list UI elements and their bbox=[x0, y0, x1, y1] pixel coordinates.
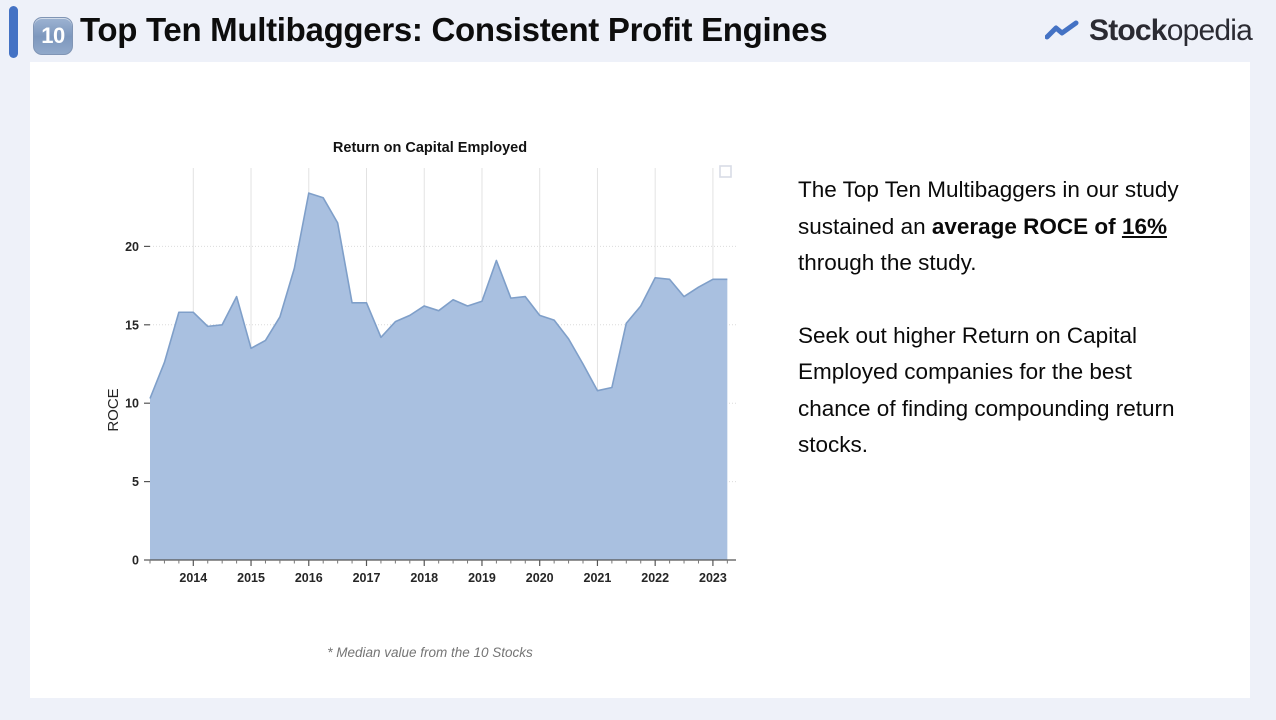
stockopedia-logo[interactable]: Stockopedia bbox=[1045, 14, 1252, 48]
area-fill bbox=[150, 193, 727, 560]
svg-text:5: 5 bbox=[132, 475, 139, 489]
svg-text:2014: 2014 bbox=[179, 571, 207, 585]
x-axis: 2014201520162017201820192020202120222023 bbox=[150, 560, 736, 585]
roce-chart: Return on Capital Employed 05101520 2014… bbox=[100, 140, 760, 680]
svg-text:2022: 2022 bbox=[641, 571, 669, 585]
svg-text:2017: 2017 bbox=[353, 571, 381, 585]
accent-bar bbox=[9, 6, 18, 58]
chart-area-series bbox=[150, 193, 727, 560]
content-card: Return on Capital Employed 05101520 2014… bbox=[30, 62, 1250, 698]
logo-word-opedia: opedia bbox=[1167, 14, 1252, 47]
svg-text:2020: 2020 bbox=[526, 571, 554, 585]
paragraph-one-bold-text: average ROCE of bbox=[932, 214, 1122, 239]
chart-footnote: * Median value from the 10 Stocks bbox=[100, 645, 760, 660]
y-axis-label: ROCE bbox=[105, 388, 122, 431]
trend-up-icon bbox=[1045, 20, 1079, 42]
svg-text:2023: 2023 bbox=[699, 571, 727, 585]
paragraph-one: The Top Ten Multibaggers in our study su… bbox=[798, 172, 1210, 282]
page-header: 10 Top Ten Multibaggers: Consistent Prof… bbox=[0, 0, 1276, 62]
svg-text:2015: 2015 bbox=[237, 571, 265, 585]
logo-word-stock: Stock bbox=[1089, 14, 1167, 47]
svg-text:2016: 2016 bbox=[295, 571, 323, 585]
paragraph-two: Seek out higher Return on Capital Employ… bbox=[798, 318, 1210, 464]
chart-canvas[interactable]: 05101520 2014201520162017201820192020202… bbox=[100, 160, 760, 640]
svg-text:10: 10 bbox=[125, 397, 139, 411]
paragraph-one-bold: average ROCE of 16% bbox=[932, 214, 1167, 239]
legend-marker-icon[interactable] bbox=[720, 166, 731, 177]
svg-text:20: 20 bbox=[125, 240, 139, 254]
svg-text:2019: 2019 bbox=[468, 571, 496, 585]
commentary-text: The Top Ten Multibaggers in our study su… bbox=[798, 172, 1210, 464]
svg-text:0: 0 bbox=[132, 554, 139, 568]
svg-text:2021: 2021 bbox=[584, 571, 612, 585]
svg-text:2018: 2018 bbox=[410, 571, 438, 585]
page-title: Top Ten Multibaggers: Consistent Profit … bbox=[80, 11, 827, 49]
logo-wordmark: Stockopedia bbox=[1089, 14, 1252, 48]
paragraph-one-underline: 16% bbox=[1122, 214, 1167, 239]
slide-number-badge: 10 bbox=[33, 17, 73, 55]
chart-title: Return on Capital Employed bbox=[100, 140, 760, 156]
paragraph-one-tail: through the study. bbox=[798, 250, 976, 275]
svg-text:15: 15 bbox=[125, 318, 139, 332]
y-axis: 05101520 bbox=[125, 240, 150, 568]
